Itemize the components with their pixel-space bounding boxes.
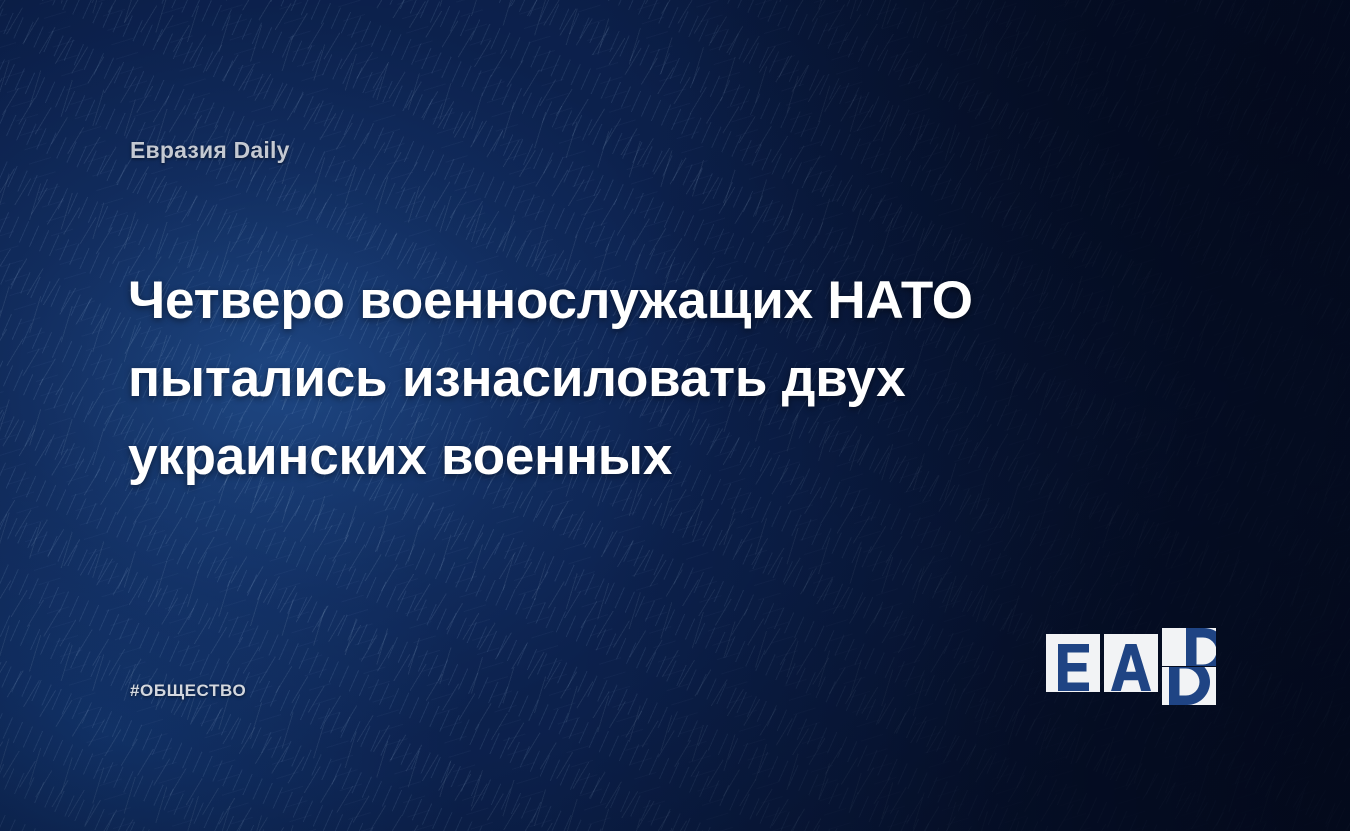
headline-line-1: Четверо военнослужащих НАТО (128, 262, 1028, 340)
logo-tile-e (1046, 634, 1100, 692)
card-content: Евразия Daily Четверо военнослужащих НАТ… (0, 0, 1350, 831)
brand-name: Евразия Daily (130, 137, 290, 164)
headline-line-2: пытались изнасиловать двух (128, 340, 1028, 418)
headline-line-3: украинских военных (128, 418, 1028, 496)
news-share-card: Евразия Daily Четверо военнослужащих НАТ… (0, 0, 1350, 831)
category-tag[interactable]: #ОБЩЕСТВО (130, 681, 246, 701)
eadaily-logo[interactable] (1045, 622, 1225, 706)
page-title: Четверо военнослужащих НАТО пытались изн… (128, 262, 1028, 496)
logo-tile-a (1104, 634, 1158, 692)
